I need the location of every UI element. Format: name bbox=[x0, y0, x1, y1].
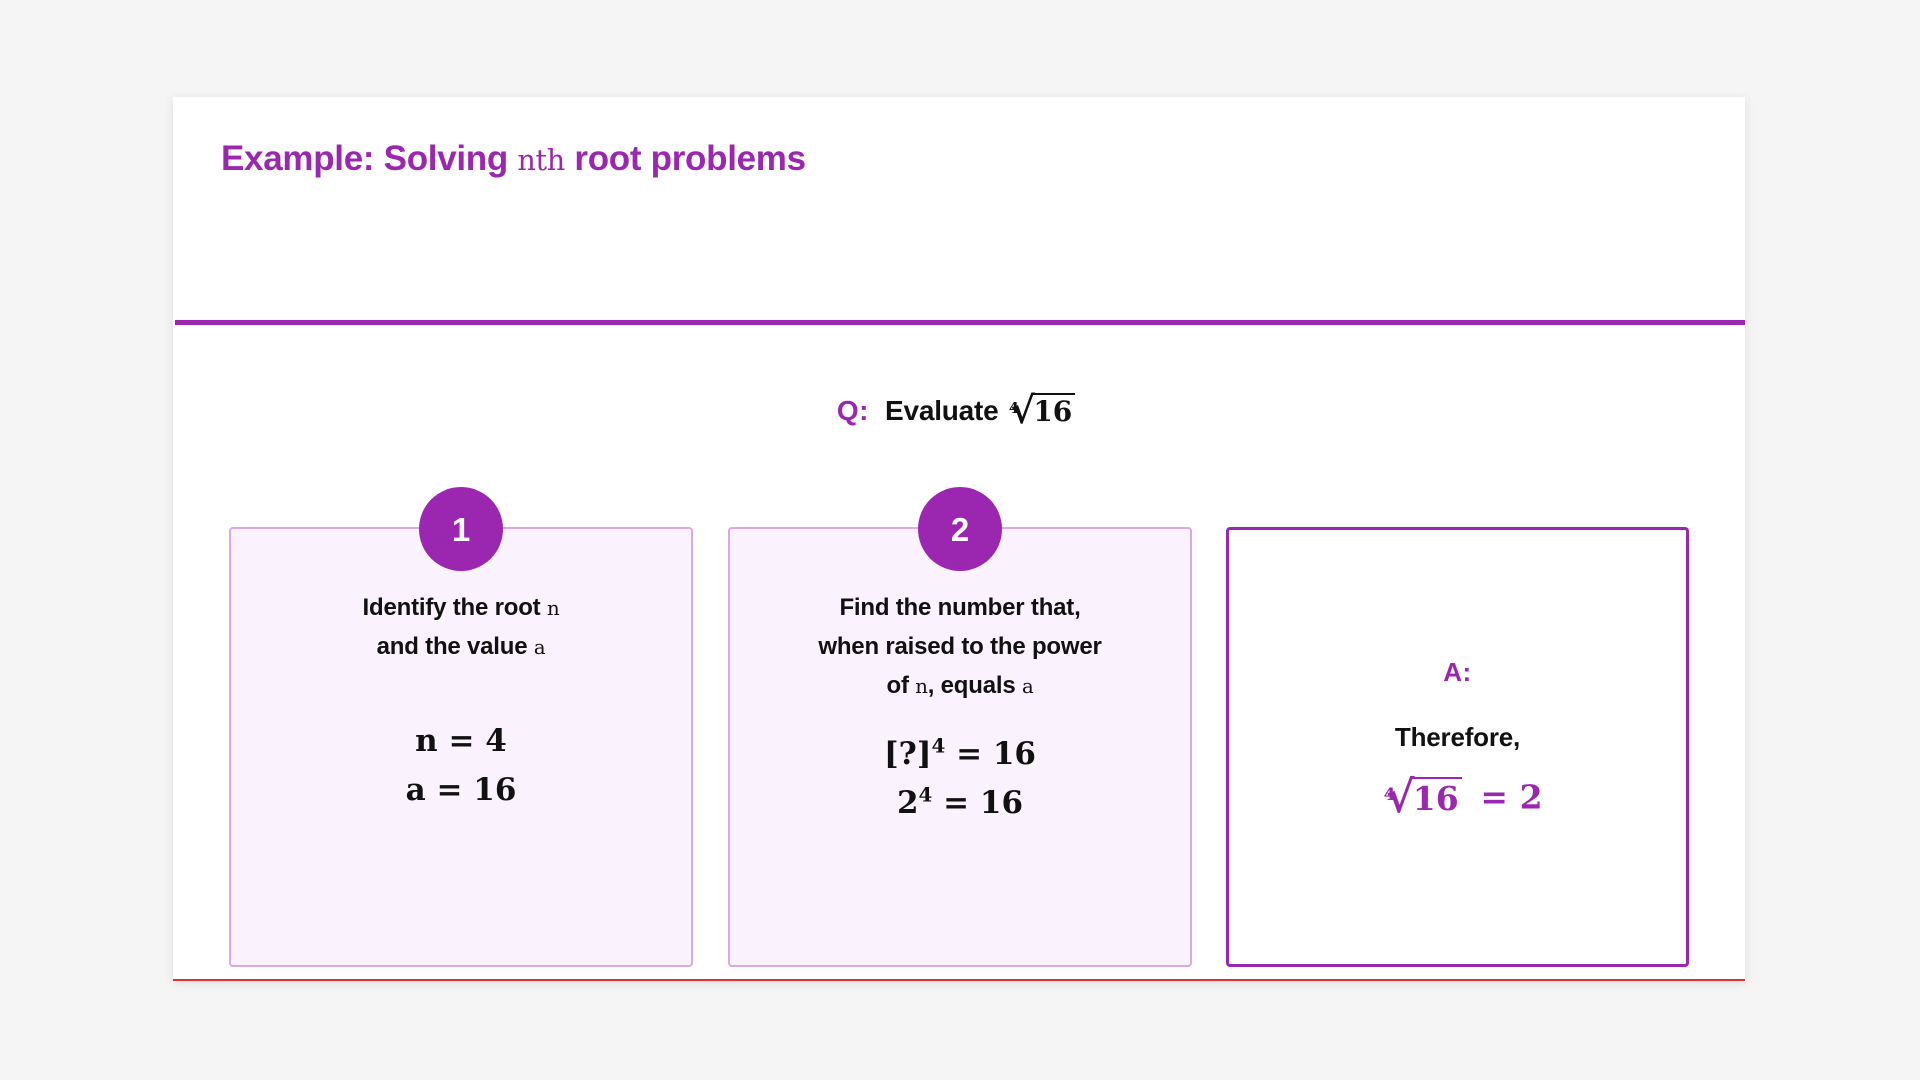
page-title: Example: Solving nth root problems bbox=[221, 139, 806, 179]
title-variable-nth: nth bbox=[517, 143, 565, 177]
title-suffix: root problems bbox=[565, 139, 806, 178]
step-2-math-2-exponent: 4 bbox=[919, 783, 933, 807]
step-2-line-3: of n, equals a bbox=[756, 667, 1164, 706]
step-2-line-1: Find the number that, bbox=[756, 589, 1164, 628]
step-2-math-1-rhs: 16 bbox=[993, 736, 1036, 772]
answer-therefore: Therefore, bbox=[1395, 722, 1520, 753]
step-2-math-2-rhs: 16 bbox=[980, 785, 1023, 821]
step-2-line-3-pre: of bbox=[887, 672, 916, 699]
title-prefix: Example: Solving bbox=[221, 139, 517, 178]
slide-page: Example: Solving nth root problems Q:Eva… bbox=[173, 97, 1745, 981]
step-1-line-2-text: and the value bbox=[377, 633, 534, 660]
question-label: Q: bbox=[837, 395, 869, 426]
answer-card-body: A: Therefore, 4√16 = 2 bbox=[1229, 530, 1686, 964]
answer-card: A: Therefore, 4√16 = 2 bbox=[1226, 527, 1689, 967]
question-radical: 4√16 bbox=[1005, 387, 1082, 431]
step-1-description: Identify the root n and the value a bbox=[257, 589, 665, 667]
step-1-var-n: n bbox=[547, 597, 559, 620]
step-2-math-1-base: [?] bbox=[884, 736, 932, 772]
step-1-math: n = 4 a = 16 bbox=[257, 717, 665, 816]
step-2-math-1-exponent: 4 bbox=[932, 733, 946, 757]
step-1-math-2-lhs: a bbox=[406, 772, 426, 808]
step-2-line-2: when raised to the power bbox=[756, 628, 1164, 667]
radical-sign: √ bbox=[1011, 388, 1035, 432]
step-1-var-a: a bbox=[534, 636, 546, 659]
step-2-line-3-mid: , equals bbox=[928, 672, 1022, 699]
step-2-var-a: a bbox=[1022, 675, 1034, 698]
step-2-math-2-eq: = bbox=[932, 785, 980, 821]
step-1-line-1-text: Identify the root bbox=[363, 594, 547, 621]
slide-header: Example: Solving nth root problems bbox=[173, 97, 1745, 230]
question-text: Evaluate bbox=[885, 395, 999, 426]
radicand: 16 bbox=[1032, 393, 1075, 428]
question-line: Q:Evaluate4√16 bbox=[173, 387, 1745, 431]
step-1-math-2-rhs: 16 bbox=[473, 772, 516, 808]
step-card-1: 1 Identify the root n and the value a n … bbox=[229, 527, 693, 967]
answer-result: 4√16 = 2 bbox=[1372, 771, 1542, 822]
steps-row: 1 Identify the root n and the value a n … bbox=[173, 527, 1745, 972]
step-2-var-n: n bbox=[915, 675, 927, 698]
step-1-line-2: and the value a bbox=[257, 628, 665, 667]
step-card-2-body: Find the number that, when raised to the… bbox=[730, 529, 1190, 965]
step-1-math-1-eq: = bbox=[438, 723, 486, 759]
answer-radical-sign: √ bbox=[1386, 772, 1415, 823]
step-1-math-2-eq: = bbox=[426, 772, 474, 808]
answer-value: 2 bbox=[1520, 777, 1543, 816]
step-2-math: [?]4 = 16 24 = 16 bbox=[756, 730, 1164, 829]
step-2-math-line-1: [?]4 = 16 bbox=[756, 730, 1164, 780]
title-divider bbox=[175, 320, 1745, 325]
answer-label: A: bbox=[1443, 657, 1471, 688]
step-1-math-1-lhs: n bbox=[415, 723, 438, 759]
step-1-math-line-2: a = 16 bbox=[257, 766, 665, 816]
step-1-line-1: Identify the root n bbox=[257, 589, 665, 628]
answer-equals: = bbox=[1469, 777, 1520, 816]
step-2-math-1-eq: = bbox=[945, 736, 993, 772]
step-card-2: 2 Find the number that, when raised to t… bbox=[728, 527, 1192, 967]
step-2-math-2-base: 2 bbox=[897, 785, 919, 821]
page-break-line bbox=[173, 979, 1745, 981]
answer-radicand: 16 bbox=[1412, 777, 1462, 818]
step-2-description: Find the number that, when raised to the… bbox=[756, 589, 1164, 706]
step-1-math-line-1: n = 4 bbox=[257, 717, 665, 767]
step-card-1-body: Identify the root n and the value a n = … bbox=[231, 529, 691, 965]
answer-radical: 4√16 bbox=[1378, 771, 1469, 822]
step-2-math-line-2: 24 = 16 bbox=[756, 779, 1164, 829]
step-1-math-1-rhs: 4 bbox=[485, 723, 507, 759]
